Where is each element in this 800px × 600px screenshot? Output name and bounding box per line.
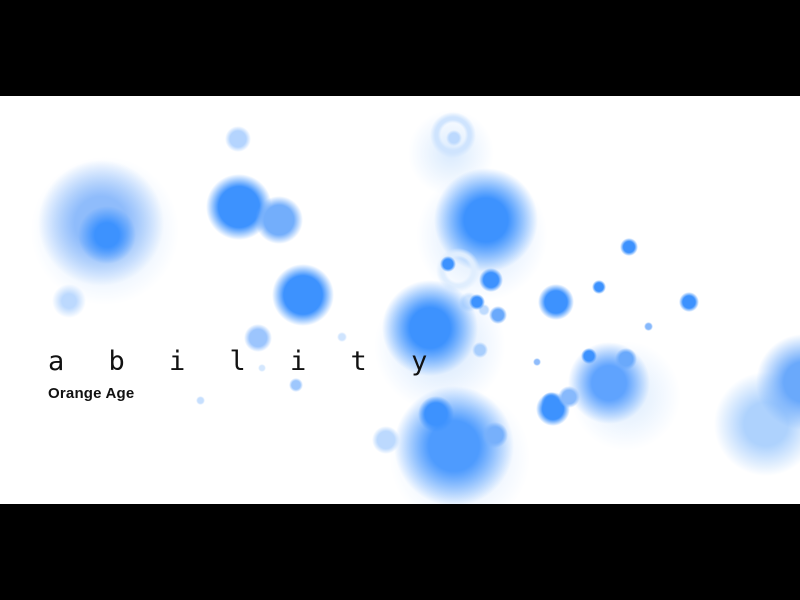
bokeh-circle [52, 284, 86, 318]
artwork-canvas: a b i l i t y Orange Age [0, 96, 800, 504]
bokeh-circle [396, 98, 506, 208]
title-block: a b i l i t y Orange Age [48, 348, 441, 401]
bokeh-circle [478, 304, 490, 316]
bokeh-circle [538, 284, 574, 320]
bokeh-circle [679, 292, 699, 312]
bokeh-circle [372, 426, 400, 454]
bokeh-circle [430, 112, 476, 158]
bokeh-circle [406, 296, 456, 346]
bokeh-circle [714, 372, 800, 476]
page-title: a b i l i t y [48, 348, 441, 375]
bokeh-circle [38, 160, 164, 286]
bokeh-circle [459, 292, 479, 312]
bokeh-circle [644, 322, 653, 331]
bokeh-circle [581, 348, 597, 364]
bokeh-circle [615, 348, 637, 370]
bokeh-circle [440, 256, 456, 272]
bokeh-circle [469, 294, 485, 310]
bokeh-circle [337, 332, 347, 342]
bokeh-circle [533, 358, 541, 366]
bokeh-circle [482, 422, 508, 448]
bokeh-circle [418, 396, 454, 432]
bokeh-circle [225, 126, 251, 152]
bokeh-circle [434, 168, 538, 272]
bokeh-circle [10, 136, 200, 326]
bokeh-circle [272, 264, 334, 326]
bokeh-circle [398, 152, 566, 320]
bokeh-circle [479, 268, 503, 292]
bokeh-circle [756, 334, 800, 430]
video-frame: a b i l i t y Orange Age [0, 0, 800, 600]
bokeh-circle [394, 386, 514, 504]
bokeh-circle [568, 342, 650, 424]
letterbox-bar-top [0, 0, 800, 96]
bokeh-circle [558, 386, 580, 408]
bokeh-circle [472, 342, 488, 358]
bokeh-circle [489, 306, 507, 324]
bokeh-circle [556, 326, 696, 466]
bokeh-circle [620, 238, 638, 256]
subtitle: Orange Age [48, 386, 441, 401]
bokeh-circle [206, 174, 272, 240]
bokeh-circle [78, 206, 136, 264]
bokeh-circle [541, 392, 561, 412]
bokeh-circle [255, 196, 303, 244]
bokeh-circle [446, 130, 462, 146]
letterbox-bar-bottom [0, 504, 800, 600]
bokeh-circle [436, 248, 480, 292]
bokeh-circle [536, 392, 570, 426]
bokeh-circle [592, 280, 606, 294]
